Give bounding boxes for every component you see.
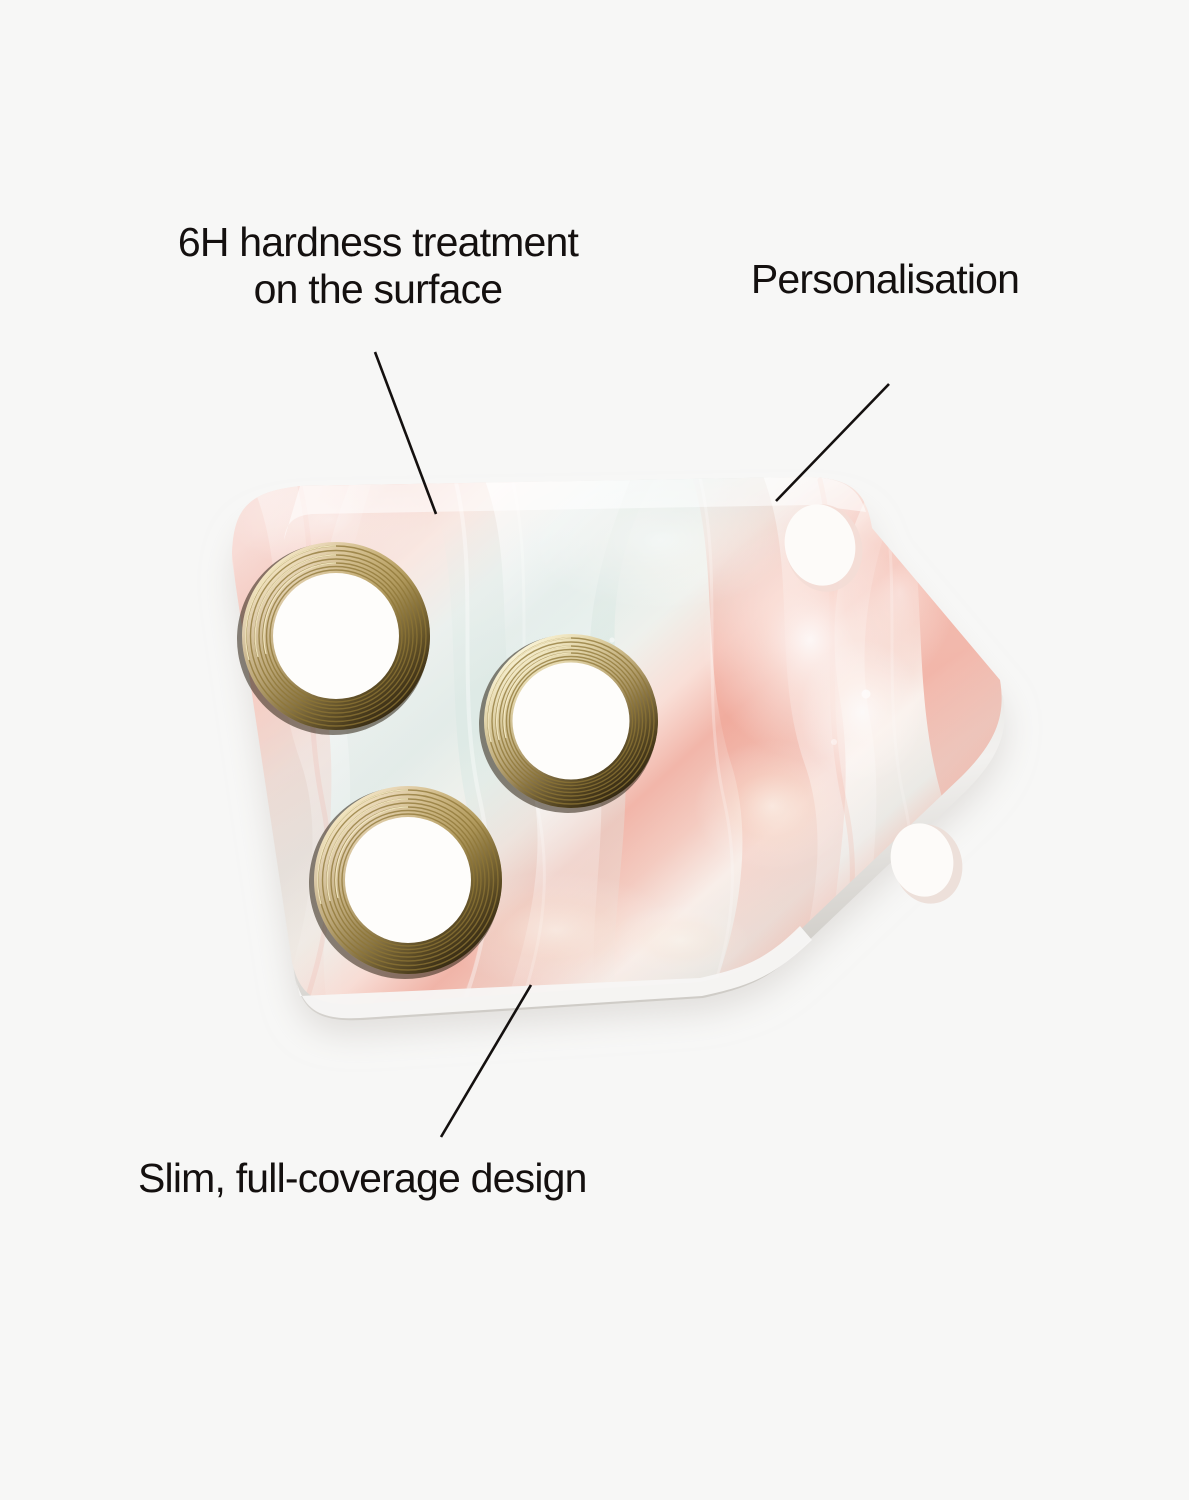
product-feature-diagram: 6H hardness treatment on the surface Per… [0, 0, 1189, 1500]
annotation-label-slim: Slim, full-coverage design [138, 1155, 758, 1202]
annotation-label-hardness: 6H hardness treatment on the surface [98, 219, 658, 312]
annotation-label-personalisation: Personalisation [700, 256, 1070, 303]
